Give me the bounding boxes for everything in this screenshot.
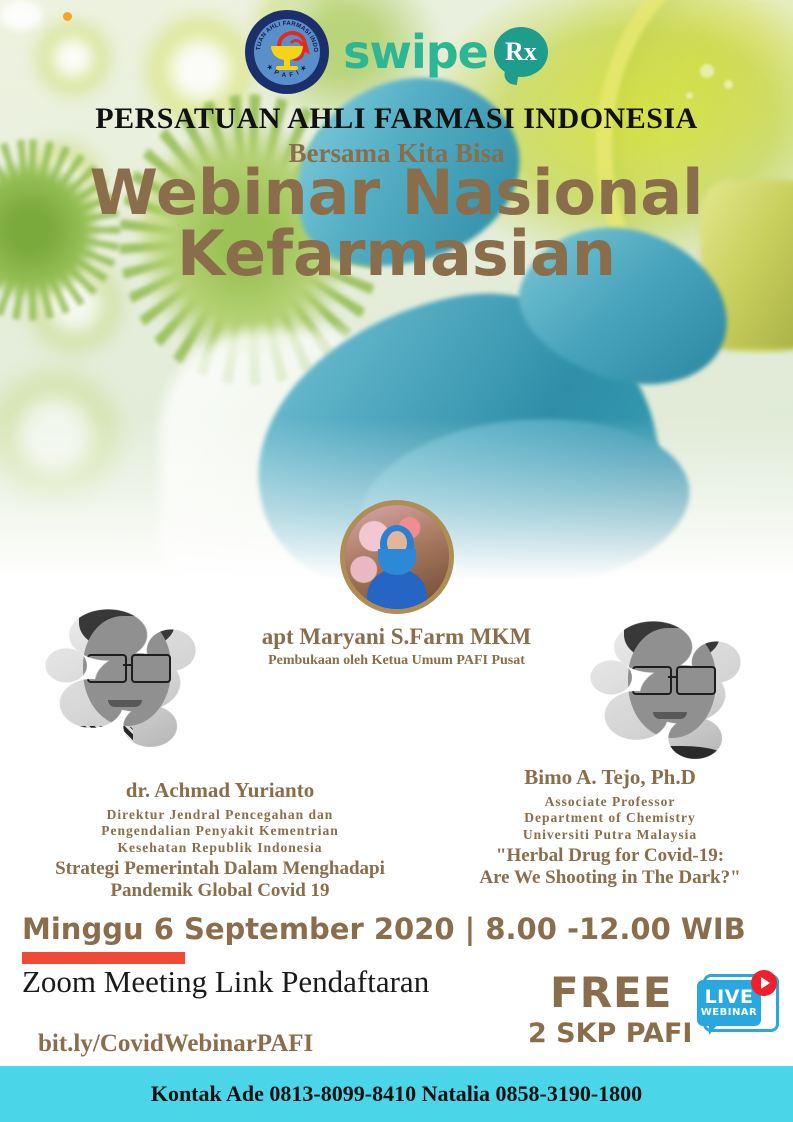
badge-webinar-label: WEBINAR bbox=[701, 1008, 758, 1018]
portrait-mouth bbox=[108, 700, 142, 708]
red-underline-accent bbox=[22, 952, 185, 964]
contact-text: Kontak Ade 0813-8099-8410 Natalia 0858-3… bbox=[151, 1081, 642, 1107]
speaker-name: dr. Achmad Yurianto bbox=[0, 778, 445, 803]
rx-label: Rx bbox=[505, 39, 537, 65]
swiperx-logo-icon: swipe Rx bbox=[343, 27, 548, 77]
portrait-batik-shirt bbox=[62, 726, 133, 768]
glasses-icon bbox=[632, 666, 672, 695]
speaker-portrait-right bbox=[565, 590, 775, 780]
rx-speech-bubble-icon: Rx bbox=[494, 27, 548, 77]
bowl-of-hygieia-icon bbox=[267, 35, 307, 69]
page-title: Webinar Nasional Kefarmasian bbox=[0, 163, 793, 285]
glasses-icon bbox=[87, 654, 127, 683]
spore-shape bbox=[0, 360, 130, 510]
speaker-portrait-left bbox=[20, 578, 230, 768]
registration-heading: Zoom Meeting Link Pendaftaran bbox=[22, 964, 429, 1000]
live-webinar-badge: LIVE WEBINAR bbox=[695, 970, 777, 1042]
portrait-photo bbox=[20, 578, 230, 768]
title-line-2: Kefarmasian bbox=[0, 224, 793, 285]
contact-footer: Kontak Ade 0813-8099-8410 Natalia 0858-3… bbox=[0, 1066, 793, 1122]
portrait-photo bbox=[565, 590, 775, 780]
pafi-logo-icon: PERSATUAN AHLI FARMASI INDONESIA ★ P A F… bbox=[245, 10, 329, 94]
swiperx-dot-icon bbox=[63, 12, 72, 21]
portrait-mouth bbox=[653, 712, 687, 720]
speaker-affiliation: Direktur Jendral Pencegahan dan Pengenda… bbox=[0, 807, 445, 856]
glasses-icon bbox=[131, 654, 171, 683]
speaker-affiliation: Associate Professor Department of Chemis… bbox=[430, 794, 790, 843]
pafi-logo-inner: PERSATUAN AHLI FARMASI INDONESIA ★ P A F… bbox=[254, 19, 320, 85]
organization-title: PERSATUAN AHLI FARMASI INDONESIA bbox=[0, 102, 793, 136]
speaker-name: Bimo A. Tejo, Ph.D bbox=[430, 765, 790, 790]
registration-link[interactable]: bit.ly/CovidWebinarPAFI bbox=[38, 1030, 313, 1058]
glasses-icon bbox=[676, 666, 716, 695]
schedule-line: Minggu 6 September 2020 | 8.00 -12.00 WI… bbox=[22, 912, 746, 946]
swiperx-wordmark: swipe bbox=[343, 29, 488, 75]
skp-credits-label: 2 SKP PAFI bbox=[528, 1018, 692, 1049]
speaker-info-left: dr. Achmad Yurianto Direktur Jendral Pen… bbox=[0, 778, 445, 901]
webinar-poster: PERSATUAN AHLI FARMASI INDONESIA ★ P A F… bbox=[0, 0, 793, 1122]
avatar bbox=[340, 500, 454, 614]
bowl-base bbox=[276, 66, 298, 70]
speaker-info-right: Bimo A. Tejo, Ph.D Associate Professor D… bbox=[430, 765, 790, 888]
badge-live-label: LIVE bbox=[705, 988, 754, 1007]
glasses-bridge bbox=[123, 664, 134, 666]
logo-row: PERSATUAN AHLI FARMASI INDONESIA ★ P A F… bbox=[0, 6, 793, 98]
speaker-topic: Strategi Pemerintah Dalam Menghadapi Pan… bbox=[0, 858, 445, 901]
glasses-bridge bbox=[668, 676, 679, 678]
speaker-topic: "Herbal Drug for Covid-19: Are We Shooti… bbox=[430, 845, 790, 888]
play-button-icon bbox=[751, 970, 777, 996]
free-label: FREE bbox=[550, 968, 672, 1017]
